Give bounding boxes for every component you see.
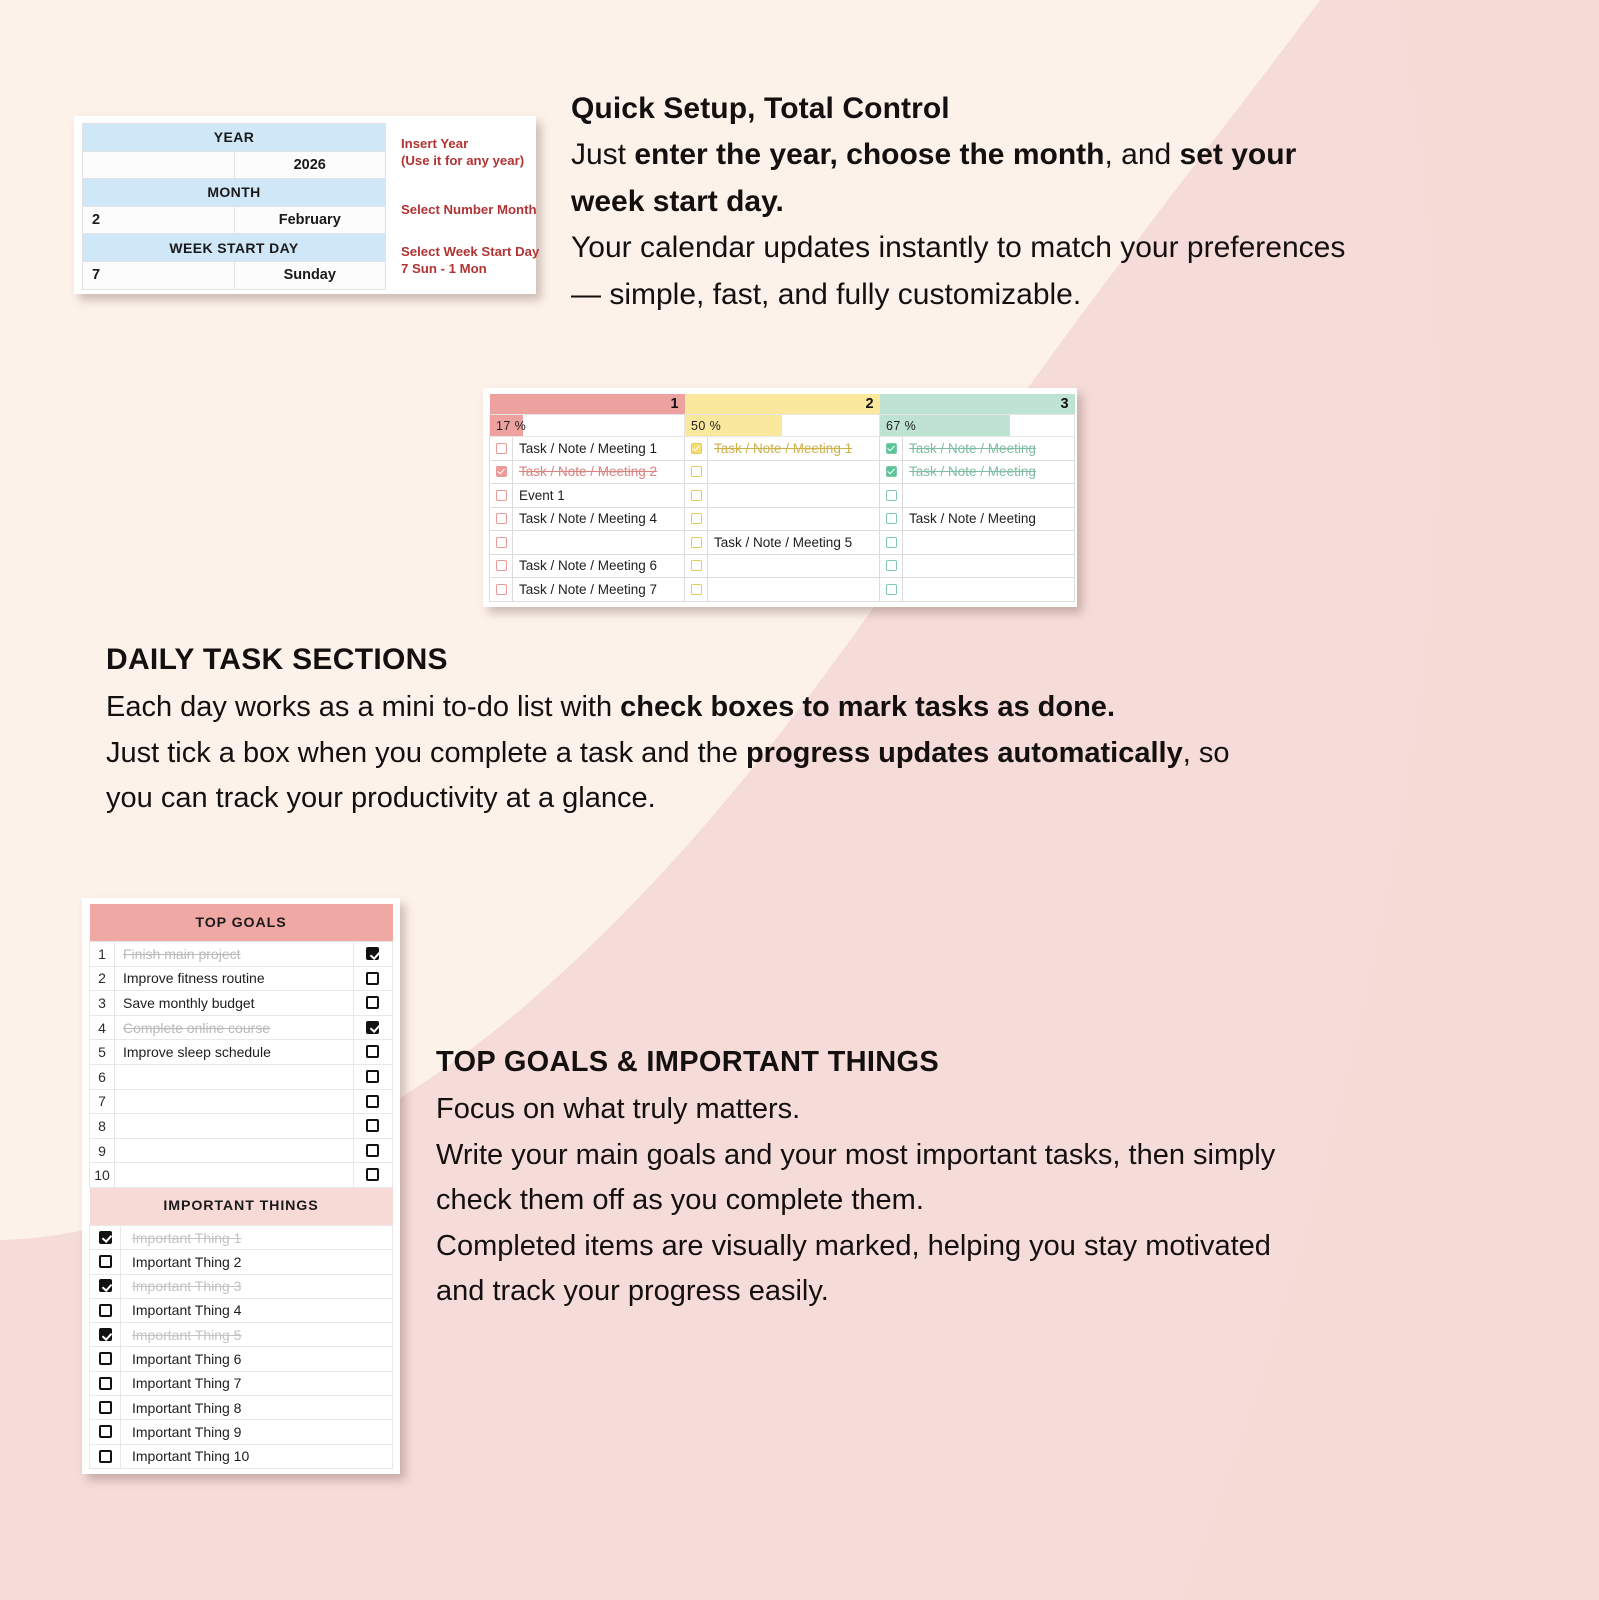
goal-checkbox-cell[interactable] — [353, 942, 392, 967]
goal-number: 2 — [90, 966, 115, 991]
table-row: Important Thing 5 — [90, 1323, 393, 1347]
task-text-cell[interactable] — [708, 507, 880, 531]
table-row: 2026 — [83, 151, 386, 179]
thing-checkbox-cell[interactable] — [90, 1444, 121, 1468]
text-span: Each day works as a mini to-do list with — [106, 691, 620, 723]
thing-checkbox-cell[interactable] — [90, 1420, 121, 1444]
thing-text[interactable]: Important Thing 5 — [121, 1323, 393, 1347]
checkbox-icon[interactable] — [691, 466, 702, 477]
goal-text[interactable]: Complete online course — [115, 1015, 354, 1040]
setup-year-value[interactable]: 2026 — [234, 151, 386, 179]
thing-text[interactable]: Important Thing 4 — [121, 1298, 393, 1322]
checkbox-icon[interactable] — [496, 490, 507, 501]
checkbox-icon[interactable] — [496, 560, 507, 571]
setup-weekstart-value[interactable]: Sunday — [234, 261, 386, 289]
setup-note-weekstart: Select Week Start Day 7 Sun - 1 Mon — [401, 243, 539, 278]
table-row: TOP GOALS — [90, 904, 393, 942]
checkbox-checked-icon[interactable] — [886, 466, 897, 477]
text-span: , so — [1183, 737, 1230, 769]
checkbox-checked-icon[interactable] — [496, 466, 507, 477]
setup-note-year: Insert Year (Use it for any year) — [401, 135, 524, 170]
table-row: Task / Note / Meeting 1Task / Note / Mee… — [490, 437, 1075, 461]
checkbox-icon[interactable] — [99, 1304, 112, 1317]
task-checkbox-cell[interactable] — [685, 507, 708, 531]
table-row: WEEK START DAY — [83, 234, 386, 262]
thing-checkbox-cell[interactable] — [90, 1347, 121, 1371]
goal-checkbox-cell[interactable] — [353, 1064, 392, 1089]
goal-number: 7 — [90, 1089, 115, 1114]
task-checkbox-cell[interactable] — [490, 531, 513, 555]
checkbox-checked-icon[interactable] — [99, 1231, 112, 1244]
day-header-row: 123 — [490, 394, 1075, 415]
daily-description-line-1: Each day works as a mini to-do list with… — [106, 685, 1506, 731]
task-checkbox-cell[interactable] — [685, 437, 708, 461]
goal-checkbox-cell[interactable] — [353, 1138, 392, 1163]
goals-description-line-1: Focus on what truly matters. — [436, 1087, 1516, 1133]
task-text-cell[interactable]: Task / Note / Meeting 7 — [513, 578, 685, 602]
task-text-cell[interactable] — [903, 484, 1075, 508]
goals-description-line-5: and track your progress easily. — [436, 1269, 1516, 1315]
checkbox-icon[interactable] — [366, 1168, 379, 1181]
task-text-cell[interactable] — [513, 531, 685, 555]
setup-month-value[interactable]: February — [234, 206, 386, 234]
checkbox-icon[interactable] — [691, 513, 702, 524]
setup-note-month: Select Number Month — [401, 201, 537, 218]
task-text-cell[interactable]: Task / Note / Meeting 4 — [513, 507, 685, 531]
table-row: Important Thing 9 — [90, 1420, 393, 1444]
goal-number: 9 — [90, 1138, 115, 1163]
table-row: 4Complete online course — [90, 1015, 393, 1040]
task-text-cell[interactable]: Task / Note / Meeting — [903, 507, 1075, 531]
task-checkbox-cell[interactable] — [880, 578, 903, 602]
thing-text[interactable]: Important Thing 10 — [121, 1444, 393, 1468]
checkbox-icon[interactable] — [886, 560, 897, 571]
goal-text[interactable] — [115, 1114, 354, 1139]
thing-checkbox-cell[interactable] — [90, 1298, 121, 1322]
task-checkbox-cell[interactable] — [490, 484, 513, 508]
goal-checkbox-cell[interactable] — [353, 1089, 392, 1114]
table-row: Important Thing 2 — [90, 1250, 393, 1274]
checkbox-icon[interactable] — [366, 1070, 379, 1083]
task-text-cell[interactable]: Task / Note / Meeting — [903, 437, 1075, 461]
goal-text[interactable] — [115, 1064, 354, 1089]
daily-description-title: DAILY TASK SECTIONS — [106, 643, 1506, 677]
task-text-cell[interactable]: Task / Note / Meeting 1 — [708, 437, 880, 461]
task-checkbox-cell[interactable] — [880, 531, 903, 555]
goal-text[interactable] — [115, 1089, 354, 1114]
checkbox-icon[interactable] — [691, 537, 702, 548]
table-row: YEAR — [83, 124, 386, 152]
checkbox-icon[interactable] — [886, 513, 897, 524]
goal-number: 6 — [90, 1064, 115, 1089]
top-goals-table: TOP GOALS 1Finish main project2Improve f… — [89, 904, 393, 1188]
thing-text[interactable]: Important Thing 3 — [121, 1274, 393, 1298]
table-row: 9 — [90, 1138, 393, 1163]
setup-note-month-line1: Select Number Month — [401, 201, 537, 218]
task-checkbox-cell[interactable] — [685, 484, 708, 508]
table-row: 7 Sunday — [83, 261, 386, 289]
setup-description-line-3: Your calendar updates instantly to match… — [571, 225, 1511, 272]
table-row: Task / Note / Meeting 2Task / Note / Mee… — [490, 460, 1075, 484]
table-row: 7 — [90, 1089, 393, 1114]
table-row: Task / Note / Meeting 7 — [490, 578, 1075, 602]
checkbox-icon[interactable] — [691, 584, 702, 595]
goal-checkbox-cell[interactable] — [353, 1040, 392, 1065]
thing-text[interactable]: Important Thing 6 — [121, 1347, 393, 1371]
setup-notes: Insert Year (Use it for any year) Select… — [386, 123, 528, 286]
daily-description-line-2: Just tick a box when you complete a task… — [106, 731, 1506, 777]
thing-text[interactable]: Important Thing 2 — [121, 1250, 393, 1274]
checkbox-icon[interactable] — [691, 560, 702, 571]
goal-checkbox-cell[interactable] — [353, 1015, 392, 1040]
daily-description-line-3: you can track your productivity at a gla… — [106, 776, 1506, 822]
checkbox-icon[interactable] — [366, 972, 379, 985]
important-things-table: IMPORTANT THINGS Important Thing 1Import… — [89, 1188, 393, 1469]
checkbox-icon[interactable] — [99, 1352, 112, 1365]
table-row: 2 February — [83, 206, 386, 234]
setup-note-year-line1: Insert Year — [401, 135, 524, 152]
table-row: MONTH — [83, 179, 386, 207]
table-row: Task / Note / Meeting 6 — [490, 554, 1075, 578]
table-row: Important Thing 4 — [90, 1298, 393, 1322]
checkbox-icon[interactable] — [496, 513, 507, 524]
task-checkbox-cell[interactable] — [685, 531, 708, 555]
task-text-cell[interactable] — [903, 554, 1075, 578]
task-text-cell[interactable]: Task / Note / Meeting 6 — [513, 554, 685, 578]
setup-month-header: MONTH — [83, 179, 386, 207]
thing-checkbox-cell[interactable] — [90, 1250, 121, 1274]
thing-checkbox-cell[interactable] — [90, 1225, 121, 1249]
goal-text[interactable]: Improve fitness routine — [115, 966, 354, 991]
table-row: Important Thing 7 — [90, 1371, 393, 1395]
checkbox-icon[interactable] — [99, 1401, 112, 1414]
progress-row: 17 %50 %67 % — [490, 415, 1075, 437]
goal-number: 4 — [90, 1015, 115, 1040]
checkbox-checked-icon[interactable] — [886, 443, 897, 454]
checkbox-checked-icon[interactable] — [366, 1021, 379, 1034]
goal-number: 5 — [90, 1040, 115, 1065]
goals-description-line-2: Write your main goals and your most impo… — [436, 1133, 1516, 1179]
important-things-header: IMPORTANT THINGS — [90, 1188, 393, 1226]
table-row: 8 — [90, 1114, 393, 1139]
table-row: Important Thing 10 — [90, 1444, 393, 1468]
text-span-bold: progress updates automatically — [746, 737, 1183, 769]
goal-number: 3 — [90, 991, 115, 1016]
setup-description-title: Quick Setup, Total Control — [571, 92, 1511, 126]
task-checkbox-cell[interactable] — [880, 460, 903, 484]
task-text-cell[interactable] — [708, 578, 880, 602]
task-checkbox-cell[interactable] — [490, 554, 513, 578]
setup-panel: YEAR 2026 MONTH 2 February WEEK START DA… — [74, 116, 536, 294]
table-row: 6 — [90, 1064, 393, 1089]
task-text-cell[interactable] — [708, 484, 880, 508]
setup-year-header: YEAR — [83, 124, 386, 152]
goal-text[interactable]: Improve sleep schedule — [115, 1040, 354, 1065]
table-row: 10 — [90, 1163, 393, 1188]
task-checkbox-cell[interactable] — [685, 460, 708, 484]
setup-weekstart-header: WEEK START DAY — [83, 234, 386, 262]
text-span-bold: enter the year, choose the month — [634, 138, 1104, 171]
checkbox-icon[interactable] — [366, 1045, 379, 1058]
checkbox-icon[interactable] — [99, 1377, 112, 1390]
task-text-cell[interactable] — [708, 460, 880, 484]
checkbox-icon[interactable] — [366, 1144, 379, 1157]
checkbox-icon[interactable] — [496, 584, 507, 595]
checkbox-icon[interactable] — [99, 1450, 112, 1463]
table-row: Important Thing 6 — [90, 1347, 393, 1371]
task-text-cell[interactable]: Task / Note / Meeting — [903, 460, 1075, 484]
progress-label: 17 % — [496, 419, 526, 433]
checkbox-checked-icon[interactable] — [99, 1279, 112, 1292]
task-checkbox-cell[interactable] — [490, 460, 513, 484]
text-span-bold: week start day. — [571, 185, 784, 218]
goal-checkbox-cell[interactable] — [353, 966, 392, 991]
setup-note-weekstart-line1: Select Week Start Day — [401, 243, 539, 260]
progress-bar-day-1: 17 % — [490, 415, 685, 437]
goals-panel: TOP GOALS 1Finish main project2Improve f… — [82, 898, 400, 1474]
checkbox-icon[interactable] — [496, 537, 507, 548]
thing-checkbox-cell[interactable] — [90, 1396, 121, 1420]
table-row: Important Thing 1 — [90, 1225, 393, 1249]
task-text-cell[interactable] — [903, 578, 1075, 602]
checkbox-icon[interactable] — [886, 490, 897, 501]
table-row: Task / Note / Meeting 4Task / Note / Mee… — [490, 507, 1075, 531]
task-checkbox-cell[interactable] — [685, 578, 708, 602]
table-row: 5Improve sleep schedule — [90, 1040, 393, 1065]
task-checkbox-cell[interactable] — [880, 554, 903, 578]
checkbox-icon[interactable] — [691, 490, 702, 501]
goal-checkbox-cell[interactable] — [353, 1163, 392, 1188]
task-checkbox-cell[interactable] — [490, 578, 513, 602]
text-span: , and — [1104, 138, 1179, 171]
table-row: Event 1 — [490, 484, 1075, 508]
checkbox-checked-icon[interactable] — [366, 947, 379, 960]
table-row: Important Thing 8 — [90, 1396, 393, 1420]
day-number-3: 3 — [880, 394, 1075, 415]
task-checkbox-cell[interactable] — [880, 484, 903, 508]
progress-label: 50 % — [691, 419, 721, 433]
task-text-cell[interactable] — [903, 531, 1075, 555]
goals-description-line-4: Completed items are visually marked, hel… — [436, 1224, 1516, 1270]
checkbox-icon[interactable] — [366, 996, 379, 1009]
setup-month-num[interactable]: 2 — [83, 206, 235, 234]
checkbox-icon[interactable] — [496, 443, 507, 454]
task-checkbox-cell[interactable] — [490, 437, 513, 461]
thing-text[interactable]: Important Thing 9 — [121, 1420, 393, 1444]
thing-checkbox-cell[interactable] — [90, 1274, 121, 1298]
goal-number: 8 — [90, 1114, 115, 1139]
setup-description-line-1: Just enter the year, choose the month, a… — [571, 132, 1511, 179]
goals-description-title: TOP GOALS & IMPORTANT THINGS — [436, 1046, 1516, 1079]
task-checkbox-cell[interactable] — [880, 437, 903, 461]
progress-bar-day-2: 50 % — [685, 415, 880, 437]
setup-table: YEAR 2026 MONTH 2 February WEEK START DA… — [82, 123, 386, 290]
goal-text[interactable] — [115, 1163, 354, 1188]
checkbox-icon[interactable] — [366, 1095, 379, 1108]
goal-number: 10 — [90, 1163, 115, 1188]
goal-checkbox-cell[interactable] — [353, 991, 392, 1016]
goal-text[interactable]: Finish main project — [115, 942, 354, 967]
goal-text[interactable] — [115, 1138, 354, 1163]
text-span-bold: check boxes to mark tasks as done. — [620, 691, 1115, 723]
setup-note-year-line2: (Use it for any year) — [401, 152, 524, 169]
text-span-bold: set your — [1180, 138, 1297, 171]
checkbox-checked-icon[interactable] — [99, 1328, 112, 1341]
task-checkbox-cell[interactable] — [685, 554, 708, 578]
task-checkbox-cell[interactable] — [490, 507, 513, 531]
text-span: Just tick a box when you complete a task… — [106, 737, 746, 769]
day-number-2: 2 — [685, 394, 880, 415]
thing-checkbox-cell[interactable] — [90, 1371, 121, 1395]
daily-tasks-panel: 12317 %50 %67 %Task / Note / Meeting 1Ta… — [483, 388, 1077, 607]
task-text-cell[interactable]: Task / Note / Meeting 2 — [513, 460, 685, 484]
goals-description-line-3: check them off as you complete them. — [436, 1178, 1516, 1224]
setup-note-weekstart-line2: 7 Sun - 1 Mon — [401, 260, 539, 277]
task-text-cell[interactable] — [708, 554, 880, 578]
goal-checkbox-cell[interactable] — [353, 1114, 392, 1139]
goal-number: 1 — [90, 942, 115, 967]
table-row: 1Finish main project — [90, 942, 393, 967]
progress-label: 67 % — [886, 419, 916, 433]
daily-tasks-table: 12317 %50 %67 %Task / Note / Meeting 1Ta… — [489, 394, 1075, 602]
checkbox-icon[interactable] — [99, 1425, 112, 1438]
goal-text[interactable]: Save monthly budget — [115, 991, 354, 1016]
thing-text[interactable]: Important Thing 8 — [121, 1396, 393, 1420]
day-number-1: 1 — [490, 394, 685, 415]
table-row: Task / Note / Meeting 5 — [490, 531, 1075, 555]
setup-description-line-4: — simple, fast, and fully customizable. — [571, 272, 1511, 319]
task-text-cell[interactable]: Task / Note / Meeting 1 — [513, 437, 685, 461]
progress-bar-day-3: 67 % — [880, 415, 1075, 437]
checkbox-icon[interactable] — [366, 1119, 379, 1132]
table-row: 3Save monthly budget — [90, 991, 393, 1016]
table-row: IMPORTANT THINGS — [90, 1188, 393, 1226]
top-goals-header: TOP GOALS — [90, 904, 393, 942]
thing-checkbox-cell[interactable] — [90, 1323, 121, 1347]
setup-weekstart-num[interactable]: 7 — [83, 261, 235, 289]
table-row: Important Thing 3 — [90, 1274, 393, 1298]
thing-text[interactable]: Important Thing 1 — [121, 1225, 393, 1249]
goals-description-block: TOP GOALS & IMPORTANT THINGS Focus on wh… — [436, 1046, 1516, 1315]
checkbox-icon[interactable] — [99, 1255, 112, 1268]
text-span: Just — [571, 138, 634, 171]
checkbox-icon[interactable] — [886, 537, 897, 548]
task-text-cell[interactable]: Event 1 — [513, 484, 685, 508]
checkbox-icon[interactable] — [886, 584, 897, 595]
setup-description-line-2: week start day. — [571, 179, 1511, 226]
task-checkbox-cell[interactable] — [880, 507, 903, 531]
setup-description-block: Quick Setup, Total Control Just enter th… — [571, 92, 1511, 318]
table-row: 2Improve fitness routine — [90, 966, 393, 991]
daily-description-block: DAILY TASK SECTIONS Each day works as a … — [106, 643, 1506, 822]
checkbox-checked-icon[interactable] — [691, 443, 702, 454]
thing-text[interactable]: Important Thing 7 — [121, 1371, 393, 1395]
task-text-cell[interactable]: Task / Note / Meeting 5 — [708, 531, 880, 555]
setup-year-num — [83, 151, 235, 179]
